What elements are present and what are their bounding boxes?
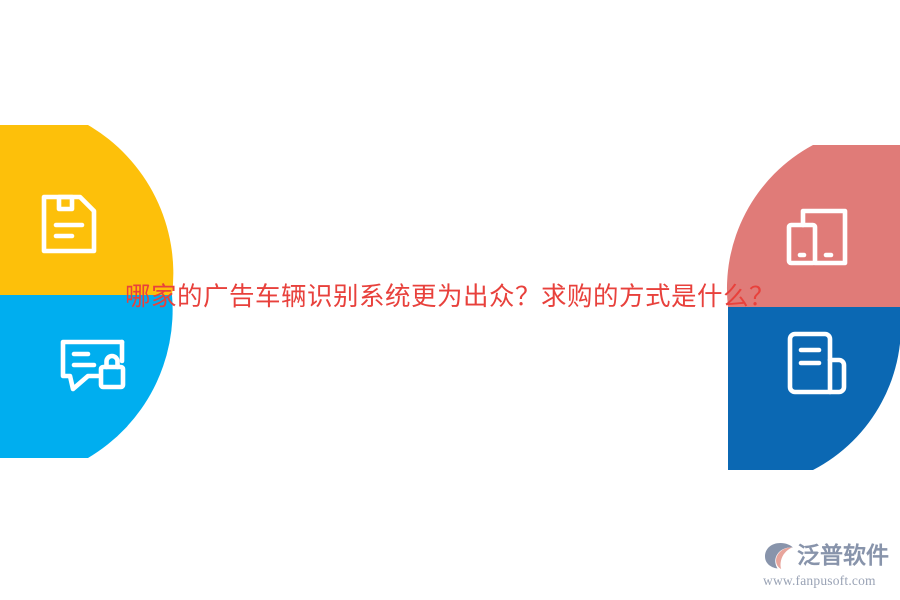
logo-row: 泛普软件 bbox=[762, 540, 894, 572]
right-bottom-tile-shape bbox=[728, 307, 900, 470]
brand-name: 泛普软件 bbox=[797, 542, 889, 570]
fanpu-leaf-logo-icon bbox=[762, 541, 794, 571]
article-headline: 哪家的广告车辆识别系统更为出众？求购的方式是什么？ bbox=[0, 277, 900, 317]
left-bottom-tile-shape bbox=[0, 295, 173, 458]
banner-canvas: 哪家的广告车辆识别系统更为出众？求购的方式是什么？ 泛普软件 www.fanpu… bbox=[0, 0, 900, 600]
site-logo[interactable]: 泛普软件 www.fanpusoft.com bbox=[762, 540, 894, 592]
left-top-tile-shape bbox=[0, 125, 173, 295]
brand-url: www.fanpusoft.com bbox=[762, 573, 894, 589]
